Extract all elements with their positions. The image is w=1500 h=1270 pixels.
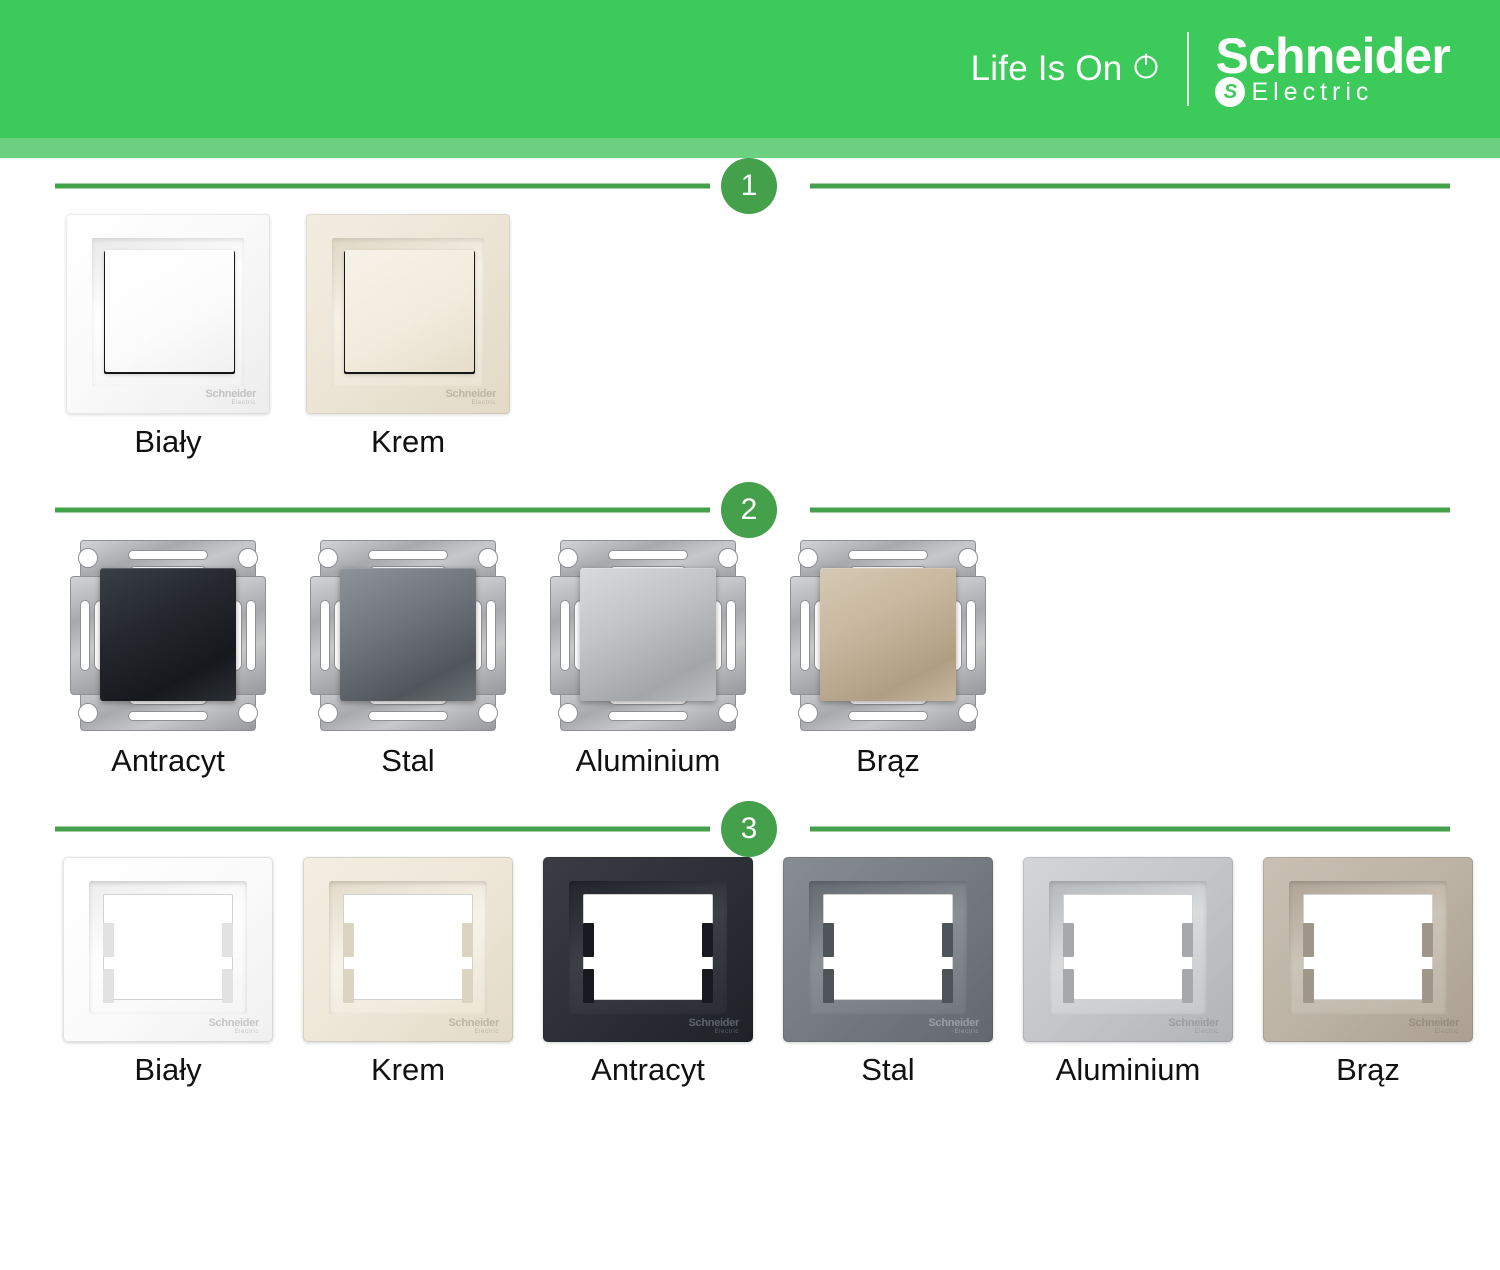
divider-rule-left <box>55 827 710 832</box>
product-label: Stal <box>381 743 434 779</box>
claw-slot <box>246 600 256 671</box>
frame-clip <box>462 969 473 1003</box>
product-cell[interactable]: SchneiderElectricAluminium <box>1008 857 1248 1088</box>
mounting-hole <box>78 703 98 723</box>
product-logo-name: Schneider <box>1169 1018 1220 1029</box>
power-icon <box>1131 51 1161 87</box>
claw-slot <box>726 600 736 671</box>
frame-clip <box>1303 969 1314 1003</box>
mounting-hole <box>318 548 338 568</box>
frame-window <box>343 894 473 1000</box>
product-logo-name: Schneider <box>449 1018 500 1029</box>
life-is-on-tagline: Life Is On <box>971 49 1162 89</box>
product-label: Antracyt <box>591 1052 705 1088</box>
product-cell[interactable]: SchneiderElectricStal <box>768 857 1008 1088</box>
mounting-hole <box>478 548 498 568</box>
product-row-3: SchneiderElectricBiałySchneiderElectricK… <box>0 857 1500 1088</box>
claw-slot <box>486 600 496 671</box>
product-logo-name: Schneider <box>929 1018 980 1029</box>
cover-frame-product[interactable]: SchneiderElectric <box>303 857 513 1042</box>
claw-slot <box>608 550 688 560</box>
section-divider-3: 3 <box>0 801 1500 857</box>
brand-lockup: Life Is On Schneider S Electric <box>971 0 1450 138</box>
frame-clip <box>1422 969 1433 1003</box>
frame-clip <box>1303 923 1314 957</box>
schneider-s-mark-icon: S <box>1215 77 1245 107</box>
claw-slot <box>368 711 448 721</box>
schneider-logo: Schneider S Electric <box>1215 31 1450 107</box>
product-label: Krem <box>371 424 445 460</box>
frame-clip <box>343 923 354 957</box>
mechanism-rocker[interactable] <box>820 568 956 701</box>
product-label: Stal <box>861 1052 914 1088</box>
product-cell[interactable]: Stal <box>288 538 528 779</box>
mounting-hole <box>958 703 978 723</box>
section-divider-2: 2 <box>0 482 1500 538</box>
frame-window <box>103 894 233 1000</box>
product-cell[interactable]: SchneiderElectricBrąz <box>1248 857 1488 1088</box>
product-label: Brąz <box>1336 1052 1400 1088</box>
frame-clip <box>103 969 114 1003</box>
mounting-hole <box>238 703 258 723</box>
frame-clip <box>942 923 953 957</box>
schneider-product-logo: SchneiderElectric <box>1169 1018 1220 1035</box>
frame-clip <box>343 969 354 1003</box>
schneider-product-logo: SchneiderElectric <box>206 389 257 406</box>
product-logo-sub: Electric <box>206 400 257 406</box>
product-cell[interactable]: SchneiderElectricAntracyt <box>528 857 768 1088</box>
divider-rule-left <box>55 184 710 189</box>
product-label: Biały <box>134 424 201 460</box>
cover-frame-product[interactable]: SchneiderElectric <box>63 857 273 1042</box>
frame-clip <box>823 969 834 1003</box>
schneider-product-logo: SchneiderElectric <box>689 1018 740 1035</box>
frame-clip <box>1182 969 1193 1003</box>
claw-slot <box>320 600 330 671</box>
frame-clip <box>103 923 114 957</box>
claw-slot <box>128 711 208 721</box>
divider-rule-right <box>810 508 1450 513</box>
section-divider-1: 1 <box>0 158 1500 214</box>
mounting-hole <box>238 548 258 568</box>
cover-frame-product[interactable]: SchneiderElectric <box>783 857 993 1042</box>
wall-switch-product[interactable]: SchneiderElectric <box>66 214 270 414</box>
product-logo-sub: Electric <box>689 1029 740 1035</box>
claw-slot <box>80 600 90 671</box>
row-spacer <box>0 460 1500 482</box>
mechanism-rocker[interactable] <box>580 568 716 701</box>
product-logo-sub: Electric <box>929 1029 980 1035</box>
claw-slot <box>368 550 448 560</box>
product-logo-sub: Electric <box>446 400 497 406</box>
mechanism-rocker[interactable] <box>100 568 236 701</box>
product-logo-name: Schneider <box>209 1018 260 1029</box>
product-label: Aluminium <box>576 743 721 779</box>
product-label: Brąz <box>856 743 920 779</box>
claw-slot <box>966 600 976 671</box>
mounting-hole <box>798 548 818 568</box>
frame-window <box>1063 894 1193 1000</box>
product-row-2: AntracytStalAluminiumBrąz <box>0 538 1500 779</box>
mounting-hole <box>958 548 978 568</box>
row-spacer <box>0 779 1500 801</box>
product-logo-name: Schneider <box>1409 1018 1460 1029</box>
mounting-hole <box>558 548 578 568</box>
product-logo-sub: Electric <box>1409 1029 1460 1035</box>
mounting-hole <box>798 703 818 723</box>
claw-slot <box>848 550 928 560</box>
claw-slot <box>608 711 688 721</box>
product-label: Biały <box>134 1052 201 1088</box>
frame-clip <box>702 923 713 957</box>
claw-slot <box>560 600 570 671</box>
product-label: Krem <box>371 1052 445 1088</box>
frame-window <box>583 894 713 1000</box>
schneider-product-logo: SchneiderElectric <box>446 389 497 406</box>
frame-clip <box>583 923 594 957</box>
frame-clip <box>1063 969 1074 1003</box>
switch-mechanism-product[interactable] <box>308 538 508 733</box>
frame-clip <box>583 969 594 1003</box>
page-header: Life Is On Schneider S Electric <box>0 0 1500 138</box>
schneider-wordmark: Schneider <box>1215 31 1450 81</box>
frame-clip <box>823 923 834 957</box>
product-label: Aluminium <box>1056 1052 1201 1088</box>
product-logo-sub: Electric <box>1169 1029 1220 1035</box>
product-label: Antracyt <box>111 743 225 779</box>
product-cell[interactable]: Aluminium <box>528 538 768 779</box>
product-logo-name: Schneider <box>446 389 497 400</box>
product-logo-name: Schneider <box>689 1018 740 1029</box>
frame-clip <box>1063 923 1074 957</box>
switch-mechanism-product[interactable] <box>68 538 268 733</box>
schneider-product-logo: SchneiderElectric <box>1409 1018 1460 1035</box>
mounting-hole <box>78 548 98 568</box>
claw-slot <box>128 550 208 560</box>
mounting-hole <box>718 548 738 568</box>
cover-frame-product[interactable]: SchneiderElectric <box>543 857 753 1042</box>
schneider-product-logo: SchneiderElectric <box>449 1018 500 1035</box>
schneider-product-logo: SchneiderElectric <box>929 1018 980 1035</box>
mounting-hole <box>718 703 738 723</box>
product-row-1: SchneiderElectricBiałySchneiderElectricK… <box>0 214 1500 460</box>
product-logo-sub: Electric <box>209 1029 260 1035</box>
switch-mechanism-product[interactable] <box>788 538 988 733</box>
schneider-sub-lockup: S Electric <box>1215 77 1373 107</box>
frame-clip <box>222 923 233 957</box>
cover-frame-product[interactable]: SchneiderElectric <box>1263 857 1473 1042</box>
cover-frame-product[interactable]: SchneiderElectric <box>1023 857 1233 1042</box>
frame-clip <box>222 969 233 1003</box>
frame-clip <box>1422 923 1433 957</box>
section-badge: 1 <box>721 158 777 214</box>
row-spacer <box>0 1088 1500 1102</box>
frame-clip <box>1182 923 1193 957</box>
product-cell[interactable]: SchneiderElectricBiały <box>48 857 288 1088</box>
frame-clip <box>462 923 473 957</box>
mounting-hole <box>318 703 338 723</box>
product-catalog: 1SchneiderElectricBiałySchneiderElectric… <box>0 158 1500 1102</box>
tagline-text: Life Is On <box>971 49 1123 89</box>
product-logo-sub: Electric <box>449 1029 500 1035</box>
frame-window <box>823 894 953 1000</box>
wall-switch-product[interactable]: SchneiderElectric <box>306 214 510 414</box>
product-cell[interactable]: Antracyt <box>48 538 288 779</box>
divider-rule-right <box>810 827 1450 832</box>
product-cell[interactable]: SchneiderElectricKrem <box>288 857 528 1088</box>
divider-rule-right <box>810 184 1450 189</box>
frame-clip <box>942 969 953 1003</box>
product-cell[interactable]: Brąz <box>768 538 1008 779</box>
schneider-product-logo: SchneiderElectric <box>209 1018 260 1035</box>
claw-slot <box>848 711 928 721</box>
product-cell[interactable]: SchneiderElectricBiały <box>48 214 288 460</box>
schneider-electric-text: Electric <box>1251 80 1373 105</box>
brand-divider <box>1187 32 1189 106</box>
switch-rocker[interactable] <box>105 250 234 372</box>
section-badge: 3 <box>721 801 777 857</box>
switch-rocker[interactable] <box>345 250 474 372</box>
mounting-hole <box>478 703 498 723</box>
frame-clip <box>702 969 713 1003</box>
frame-window <box>1303 894 1433 1000</box>
product-logo-name: Schneider <box>206 389 257 400</box>
product-cell[interactable]: SchneiderElectricKrem <box>288 214 528 460</box>
claw-slot <box>800 600 810 671</box>
header-accent-strip <box>0 138 1500 158</box>
divider-rule-left <box>55 508 710 513</box>
switch-mechanism-product[interactable] <box>548 538 748 733</box>
section-badge: 2 <box>721 482 777 538</box>
mounting-hole <box>558 703 578 723</box>
mechanism-rocker[interactable] <box>340 568 476 701</box>
